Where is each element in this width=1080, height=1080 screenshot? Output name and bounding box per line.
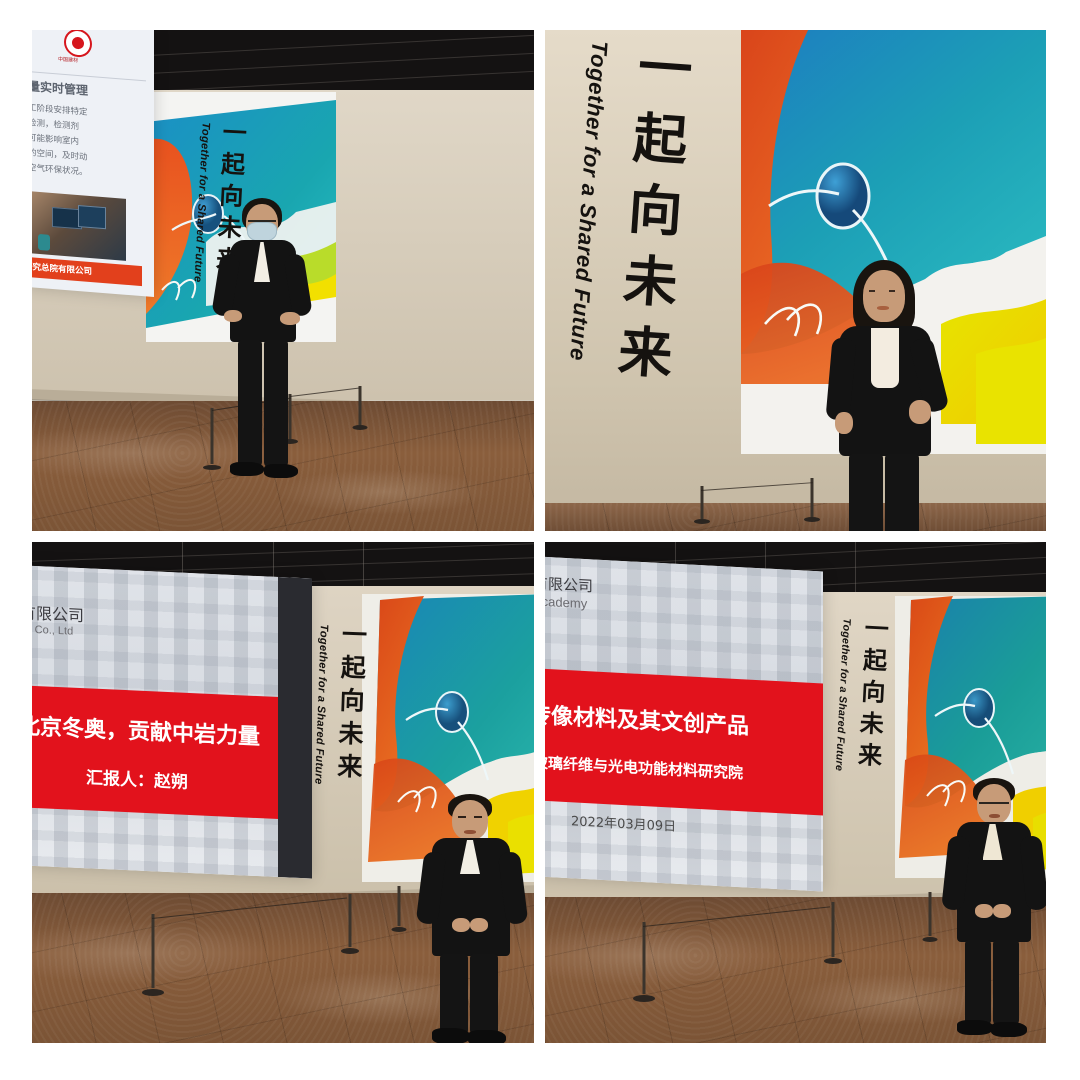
slide-company: 有限公司 Academy bbox=[545, 574, 593, 612]
hand-right bbox=[909, 400, 931, 424]
photo-panel-top-right[interactable]: 一起向未来 Together for a Shared Future bbox=[545, 30, 1047, 531]
stanchion bbox=[340, 894, 360, 954]
hand-left bbox=[452, 918, 470, 932]
slide-photo-block bbox=[32, 191, 126, 261]
slide-dark-strip bbox=[278, 577, 312, 879]
mouth bbox=[464, 830, 476, 834]
floor bbox=[545, 503, 1047, 531]
head bbox=[977, 784, 1011, 824]
face-mask bbox=[247, 222, 277, 242]
stanchion bbox=[633, 922, 655, 1002]
projection-screen: 中国建材 量实时管理 工阶段安排特定 检测，检测剂 可能影响室内 的空间，及时动… bbox=[32, 30, 154, 297]
slide-footer-band: 研究总院有限公司 bbox=[32, 257, 142, 286]
leg-left bbox=[238, 340, 262, 468]
slide-logo-label: 中国建材 bbox=[58, 55, 148, 69]
eye-left bbox=[458, 816, 466, 818]
mouth bbox=[989, 814, 1000, 818]
hand-right bbox=[470, 918, 488, 932]
slide-title-band: 传像材料及其文创产品 玻璃纤维与光电功能材料研究院 bbox=[545, 669, 823, 816]
slide-heading: 量实时管理 bbox=[32, 77, 88, 99]
shoe-right bbox=[468, 1030, 506, 1043]
hand-left bbox=[835, 412, 853, 434]
slide-title-band: 北京冬奥，贡献中岩力量 汇报人：赵朔 bbox=[32, 685, 312, 820]
stanchion bbox=[921, 892, 939, 942]
photo-collage: 中国建材 量实时管理 工阶段安排特定 检测，检测剂 可能影响室内 的空间，及时动… bbox=[32, 30, 1046, 1043]
photo-panel-bottom-right[interactable]: 一起向未来 Together for a Shared Future 有限公司 … bbox=[545, 542, 1047, 1043]
mouth bbox=[877, 306, 889, 310]
leg-left bbox=[965, 940, 991, 1026]
slide-title: 北京冬奥，贡献中岩力量 bbox=[32, 708, 312, 753]
slide-logo bbox=[66, 30, 90, 56]
venue-slogan: 一起向未来 Together for a Shared Future bbox=[312, 620, 371, 787]
hand-right bbox=[280, 312, 300, 325]
leg-right bbox=[470, 954, 498, 1036]
leg-left bbox=[849, 454, 883, 531]
slide-footer-text: 研究总院有限公司 bbox=[32, 257, 142, 286]
photo-panel-top-left[interactable]: 中国建材 量实时管理 工阶段安排特定 检测，检测剂 可能影响室内 的空间，及时动… bbox=[32, 30, 534, 531]
hand-left bbox=[975, 904, 993, 918]
shoe-right bbox=[991, 1022, 1027, 1037]
presenter-figure bbox=[813, 260, 963, 530]
hand-right bbox=[993, 904, 1011, 918]
slide-company-cn: 有限公司 bbox=[545, 574, 593, 596]
slide-company-cn: 有限公司 bbox=[32, 603, 84, 626]
leg-right bbox=[264, 340, 288, 468]
stanchion bbox=[693, 486, 711, 524]
slogan-cn: 一起向未来 bbox=[329, 621, 371, 787]
shoe-right bbox=[264, 464, 298, 478]
stanchion bbox=[350, 386, 370, 430]
slide-subtitle: 玻璃纤维与光电功能材料研究院 bbox=[545, 751, 823, 787]
slide-company: 有限公司 gy Co., Ltd bbox=[32, 603, 84, 640]
glasses-icon bbox=[979, 798, 1009, 804]
stanchion bbox=[390, 886, 408, 932]
stanchion bbox=[823, 902, 843, 964]
slide-body: 工阶段安排特定 检测，检测剂 可能影响室内 的空间，及时动 空气环保状况。 bbox=[32, 101, 88, 180]
shoe-left bbox=[432, 1028, 470, 1043]
hand-left bbox=[224, 310, 242, 322]
shoe-left bbox=[230, 462, 264, 476]
presenter-figure bbox=[204, 198, 324, 498]
presenter-figure bbox=[941, 778, 1047, 1036]
projection-screen: 有限公司 gy Co., Ltd 北京冬奥，贡献中岩力量 汇报人：赵朔 bbox=[32, 565, 312, 878]
venue-slogan: 一起向未来 Together for a Shared Future bbox=[562, 34, 702, 398]
photo-panel-bottom-left[interactable]: 一起向未来 Together for a Shared Future 有限公司 … bbox=[32, 542, 534, 1043]
eye-right bbox=[474, 816, 482, 818]
leg-right bbox=[885, 454, 919, 531]
projection-screen: 有限公司 Academy 传像材料及其文创产品 玻璃纤维与光电功能材料研究院 2… bbox=[545, 557, 823, 892]
head bbox=[863, 270, 905, 322]
slide-title: 传像材料及其文创产品 bbox=[545, 697, 823, 744]
presenter-figure bbox=[414, 794, 534, 1042]
top-garment bbox=[871, 328, 899, 388]
head bbox=[452, 800, 488, 840]
stanchion bbox=[142, 914, 164, 996]
eye-left bbox=[869, 290, 875, 292]
leg-right bbox=[993, 940, 1019, 1026]
eye-right bbox=[889, 290, 895, 292]
slide-company-en: Academy bbox=[545, 593, 593, 612]
leg-left bbox=[440, 954, 468, 1036]
shoe-left bbox=[957, 1020, 993, 1035]
venue-slogan: 一起向未来 Together for a Shared Future bbox=[832, 614, 892, 775]
